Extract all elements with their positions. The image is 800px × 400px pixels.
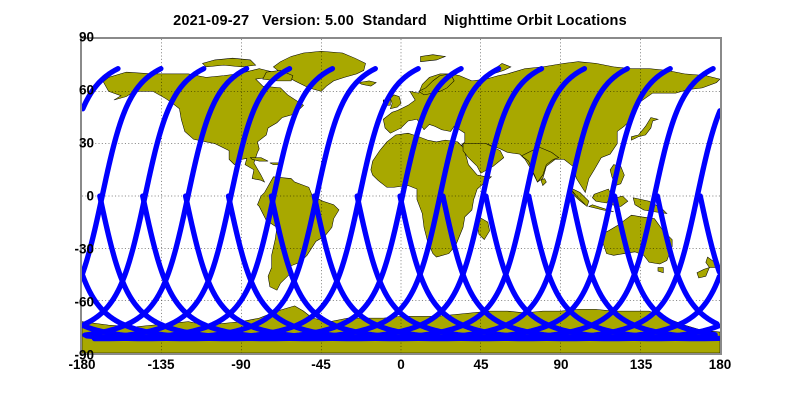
y-axis-tick: -60: [34, 295, 94, 310]
x-axis-tick: -180: [68, 357, 95, 372]
landmass-japan: [631, 118, 658, 141]
landmass-sri-lanka: [541, 179, 546, 186]
y-axis-tick: 90: [34, 30, 94, 45]
x-axis-tick: -90: [231, 357, 251, 372]
y-axis-tick: -30: [34, 242, 94, 257]
plot-inner: [82, 39, 720, 353]
x-axis-tick: -45: [311, 357, 331, 372]
landmass-tasmania: [658, 268, 663, 273]
orbit-map-figure: 2021-09-27 Version: 5.00 Standard Nightt…: [0, 0, 800, 400]
landmass-svalbard: [420, 55, 445, 62]
y-axis-tick: 60: [34, 83, 94, 98]
world-map: [82, 39, 720, 353]
y-axis-tick: 0: [34, 189, 94, 204]
x-axis-tick: 0: [397, 357, 405, 372]
page-title: 2021-09-27 Version: 5.00 Standard Nightt…: [0, 13, 800, 29]
x-axis-tick: 45: [473, 357, 488, 372]
x-axis-tick: -135: [147, 357, 174, 372]
x-axis-tick: 180: [709, 357, 732, 372]
y-axis-tick: 30: [34, 136, 94, 151]
x-axis-tick: 135: [630, 357, 653, 372]
plot-area: [80, 37, 722, 355]
x-axis-tick: 90: [553, 357, 568, 372]
landmass-british-isles: [390, 95, 401, 109]
landmass-iceland: [358, 81, 376, 86]
landmass-new-zealand-s: [697, 268, 709, 278]
landmass-canada-islands: [203, 58, 256, 67]
